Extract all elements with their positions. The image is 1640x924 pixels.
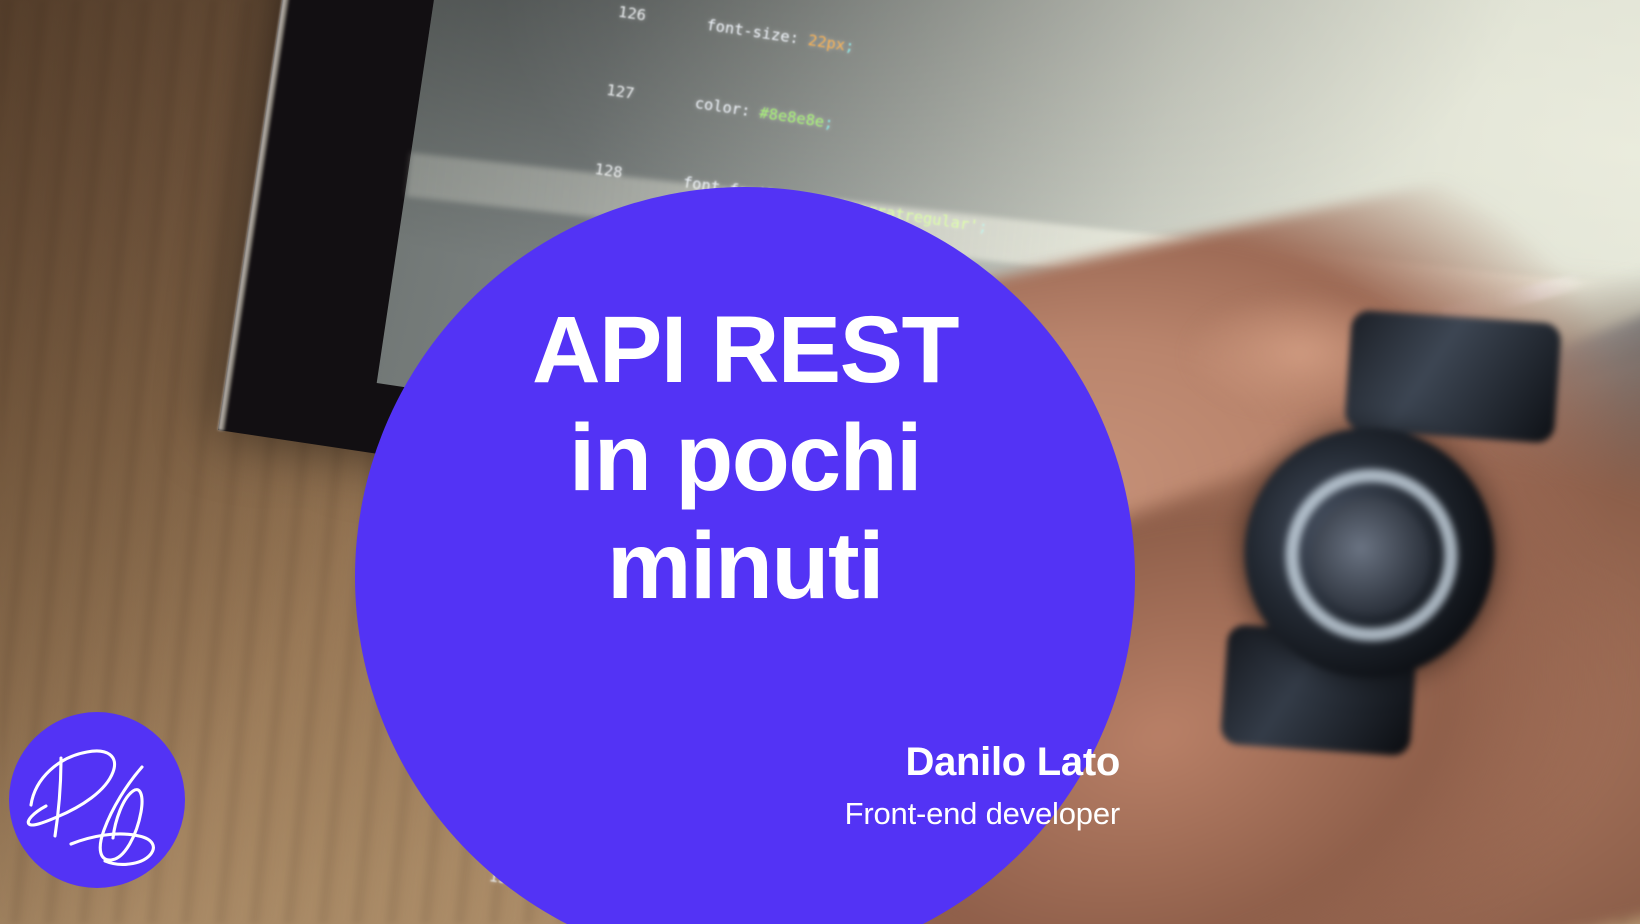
social-card: 123 124} 125▾h3{ 126 font-size: 22px; 12…: [0, 0, 1640, 924]
title-line-2: in pochi: [400, 404, 1090, 512]
author-block: Danilo Lato Front-end developer: [500, 738, 1120, 836]
title-line-1: API REST: [400, 296, 1090, 404]
author-name: Danilo Lato: [500, 738, 1120, 786]
dl-monogram-logo[interactable]: [9, 712, 185, 888]
watch-band-upper: [1344, 309, 1562, 443]
page-title: API REST in pochi minuti: [400, 296, 1090, 620]
author-role: Front-end developer: [500, 792, 1120, 836]
title-line-3: minuti: [400, 512, 1090, 620]
